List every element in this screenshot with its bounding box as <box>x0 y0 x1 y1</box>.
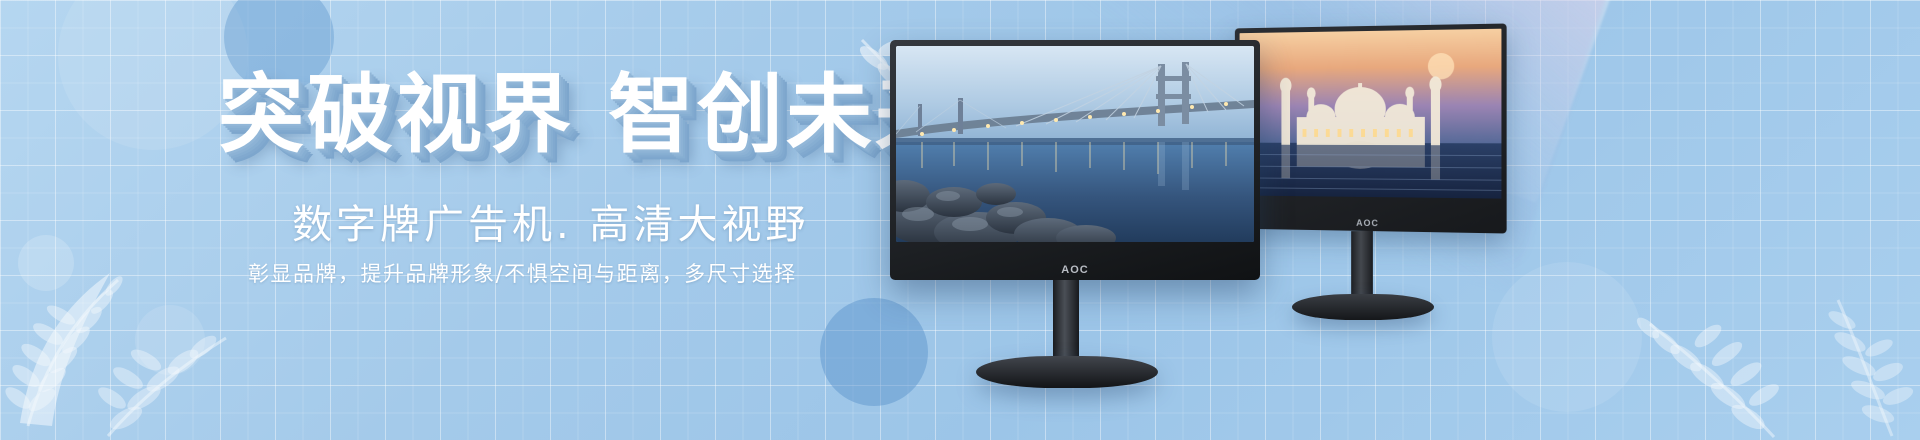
monitor-back-brand-logo: AOC <box>1356 218 1379 228</box>
monitor-screen-bridge <box>896 46 1254 242</box>
promo-banner: 突破视界智创未来 数字牌广告机. 高清大视野 彰显品牌，提升品牌形象/不惧空间与… <box>0 0 1920 440</box>
headline-part-1: 突破视界 <box>218 65 574 165</box>
page-title: 突破视界智创未来 <box>218 72 964 158</box>
fern-leaf-icon <box>1578 232 1798 440</box>
copy-block: 突破视界智创未来 数字牌广告机. 高清大视野 彰显品牌，提升品牌形象/不惧空间与… <box>0 0 900 440</box>
banner-subtitle: 数字牌广告机. 高清大视野 <box>292 192 809 250</box>
mosque-scene-art <box>1240 29 1502 199</box>
monitor-stand-base <box>976 356 1158 388</box>
monitor-bezel: AOC <box>1235 23 1507 233</box>
product-images: AOC <box>880 0 1540 440</box>
monitor-bezel: AOC <box>890 40 1260 280</box>
monitor-screen-mosque <box>1240 29 1502 199</box>
fern-leaf-icon <box>1780 196 1920 440</box>
banner-tagline: 彰显品牌，提升品牌形象/不惧空间与距离，多尺寸选择 <box>248 258 797 288</box>
monitor-front-brand-logo: AOC <box>1061 264 1088 276</box>
bridge-scene-art <box>896 46 1254 242</box>
monitor-stand-base <box>1292 294 1434 320</box>
monitor-front: AOC <box>890 40 1260 400</box>
monitor-stand-neck <box>1053 280 1079 366</box>
monitor-stand-neck <box>1351 231 1373 301</box>
monitor-back: AOC <box>1230 26 1505 326</box>
